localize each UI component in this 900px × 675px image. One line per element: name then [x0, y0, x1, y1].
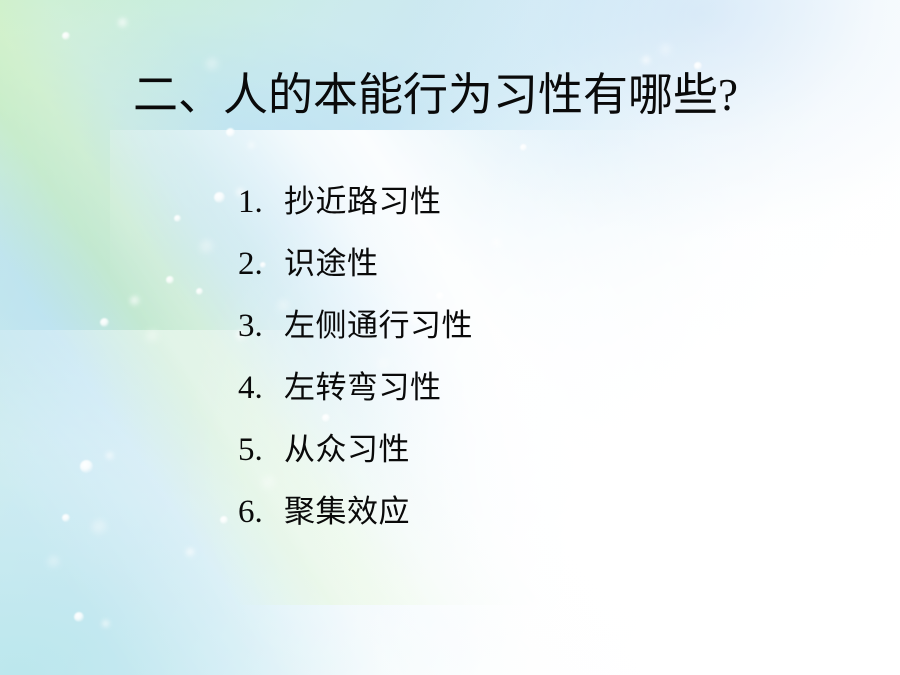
- list-item-number: 5.: [238, 432, 284, 469]
- list-item-label: 识途性: [284, 238, 379, 283]
- list-item-label: 左侧通行习性: [284, 300, 473, 345]
- list-item: 5. 从众习性: [238, 424, 473, 486]
- list-item-label: 聚集效应: [284, 486, 410, 531]
- list-item-label: 从众习性: [284, 424, 410, 469]
- list-item: 3. 左侧通行习性: [238, 300, 473, 362]
- list-item-number: 6.: [238, 494, 284, 531]
- list-item: 4. 左转弯习性: [238, 362, 473, 424]
- list-item-number: 4.: [238, 370, 284, 407]
- slide-content: 二、人的本能行为习性有哪些? 1. 抄近路习性 2. 识途性 3. 左侧通行习性…: [0, 0, 900, 675]
- list-item: 6. 聚集效应: [238, 486, 473, 548]
- page-title: 二、人的本能行为习性有哪些?: [133, 72, 738, 119]
- list-item-label: 左转弯习性: [284, 362, 442, 407]
- list-item-number: 2.: [238, 246, 284, 283]
- numbered-list: 1. 抄近路习性 2. 识途性 3. 左侧通行习性 4. 左转弯习性 5. 从众…: [238, 176, 473, 548]
- list-item: 1. 抄近路习性: [238, 176, 473, 238]
- list-item-number: 3.: [238, 308, 284, 345]
- presentation-slide: 二、人的本能行为习性有哪些? 1. 抄近路习性 2. 识途性 3. 左侧通行习性…: [0, 0, 900, 675]
- list-item: 2. 识途性: [238, 238, 473, 300]
- list-item-number: 1.: [238, 184, 284, 221]
- list-item-label: 抄近路习性: [284, 176, 442, 221]
